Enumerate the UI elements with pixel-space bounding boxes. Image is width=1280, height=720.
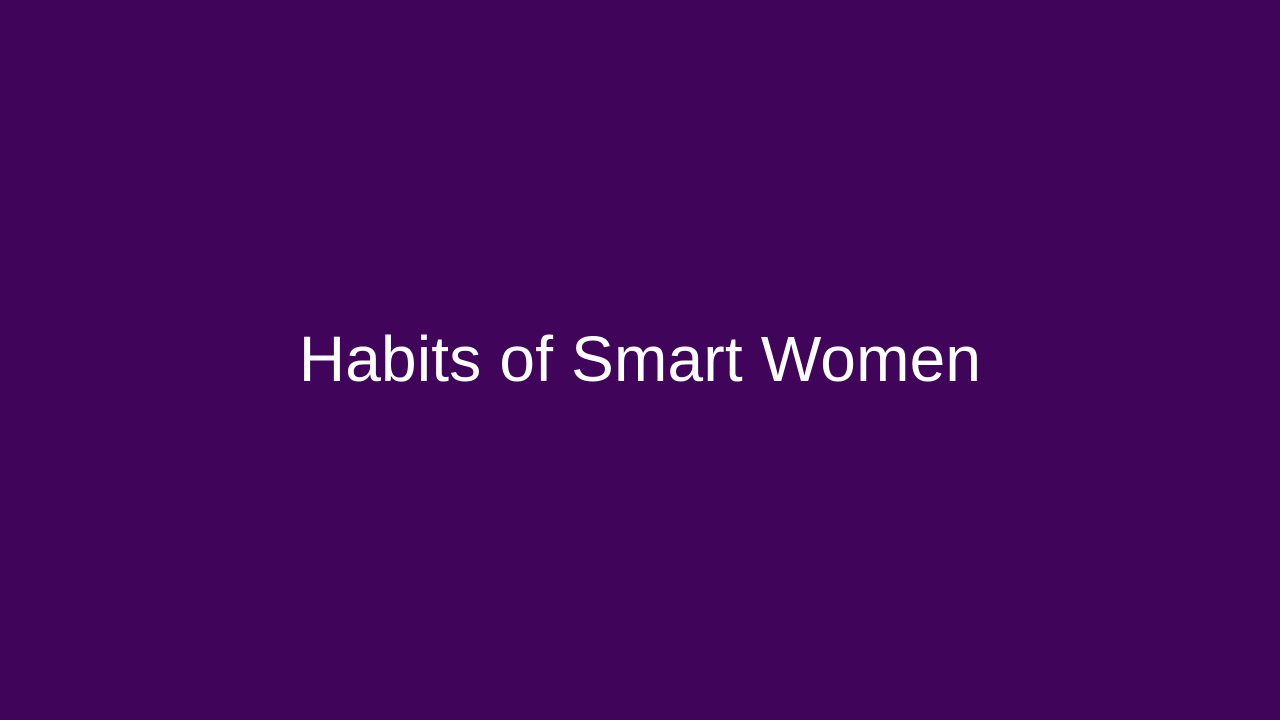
- slide-title: Habits of Smart Women: [40, 323, 1240, 397]
- slide-canvas: Habits of Smart Women: [0, 0, 1280, 720]
- title-block: Habits of Smart Women: [0, 323, 1280, 397]
